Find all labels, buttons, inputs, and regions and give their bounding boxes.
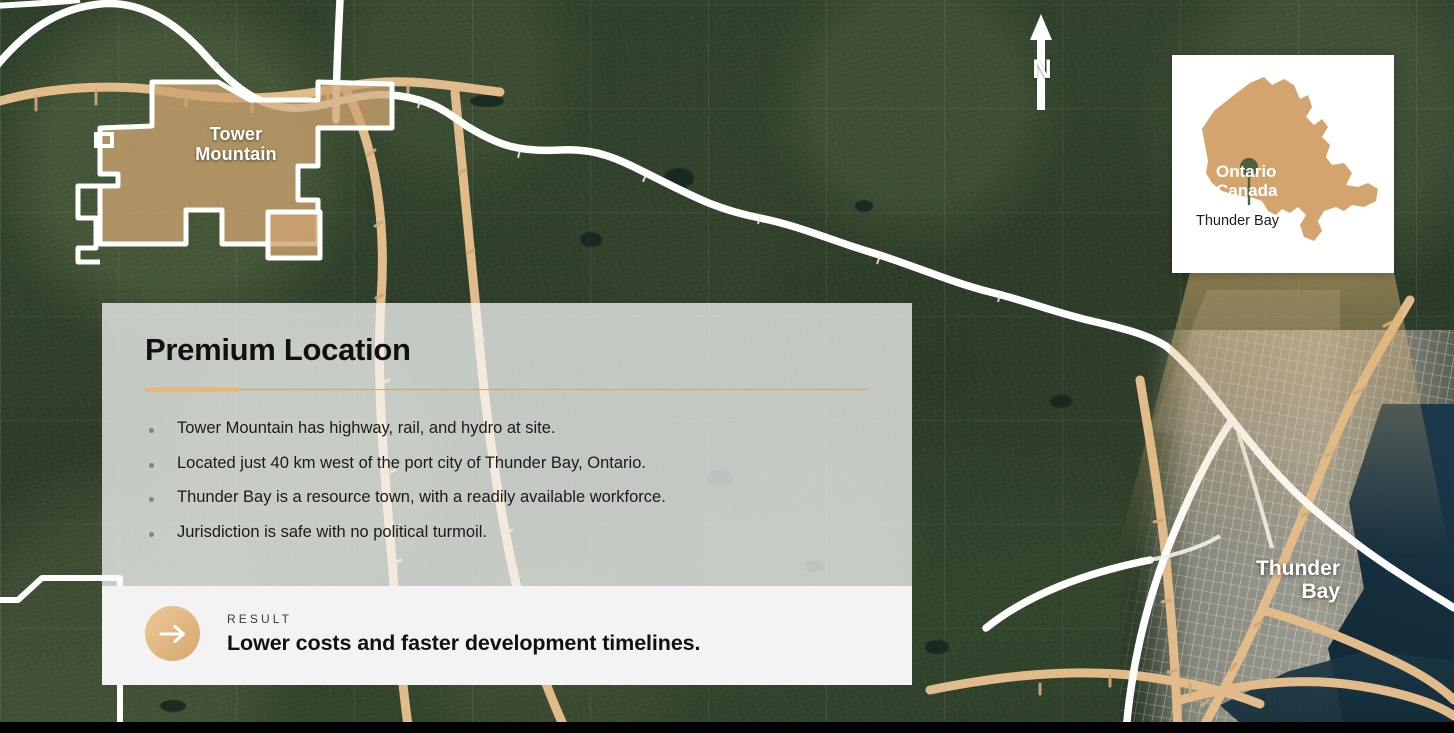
result-kicker: RESULT xyxy=(227,612,700,626)
bullet-text: Jurisdiction is safe with no political t… xyxy=(177,522,487,543)
list-item: Jurisdiction is safe with no political t… xyxy=(145,522,885,543)
title-underline xyxy=(145,389,868,390)
north-arrow: N xyxy=(1024,12,1060,116)
list-item: Tower Mountain has highway, rail, and hy… xyxy=(145,418,885,439)
info-card: Premium Location Tower Mountain has high… xyxy=(102,303,912,685)
arrow-right-glyph xyxy=(159,624,187,644)
bullet-dot-icon xyxy=(149,463,154,468)
result-statement: Lower costs and faster development timel… xyxy=(227,631,700,656)
slide-canvas: Tower Mountain N Thunder Bay Ontario Can… xyxy=(0,0,1454,733)
result-row: RESULT Lower costs and faster developmen… xyxy=(145,606,700,661)
tower-mountain-claim xyxy=(78,82,392,262)
city-label-line2: Bay xyxy=(1180,581,1340,604)
list-item: Located just 40 km west of the port city… xyxy=(145,453,885,474)
inset-locator-map: Ontario Canada Thunder Bay xyxy=(1172,55,1394,273)
result-text-block: RESULT Lower costs and faster developmen… xyxy=(227,612,700,656)
site-label-line2: Mountain xyxy=(188,144,284,164)
bottom-bar xyxy=(0,722,1454,733)
inset-pin-label: Thunder Bay xyxy=(1196,213,1279,229)
site-label-line1: Tower xyxy=(188,124,284,144)
arrow-right-icon xyxy=(145,606,200,661)
bullet-dot-icon xyxy=(149,532,154,537)
bullet-text: Tower Mountain has highway, rail, and hy… xyxy=(177,418,555,439)
city-label-line1: Thunder xyxy=(1180,558,1340,581)
list-item: Thunder Bay is a resource town, with a r… xyxy=(145,487,885,508)
bullet-text: Thunder Bay is a resource town, with a r… xyxy=(177,487,666,508)
title-underline-accent xyxy=(145,387,240,392)
city-label-thunder-bay: Thunder Bay xyxy=(1180,558,1340,603)
inset-region-line1: Ontario xyxy=(1216,163,1336,182)
bullet-dot-icon xyxy=(149,497,154,502)
site-label-tower-mountain: Tower Mountain xyxy=(188,124,284,164)
north-arrow-letter: N xyxy=(1024,56,1060,83)
bullet-dot-icon xyxy=(149,428,154,433)
bullet-text: Located just 40 km west of the port city… xyxy=(177,453,646,474)
inset-region-line2: Canada xyxy=(1216,182,1336,201)
bullet-list: Tower Mountain has highway, rail, and hy… xyxy=(145,418,885,556)
inset-region-label: Ontario Canada xyxy=(1216,163,1336,200)
card-title: Premium Location xyxy=(145,332,411,368)
